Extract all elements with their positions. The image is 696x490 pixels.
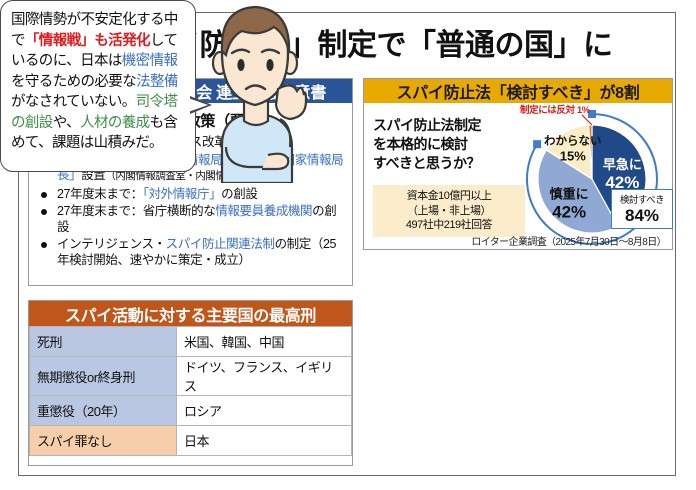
- comment-text-part: がなされていない。: [11, 94, 136, 110]
- pie-slice-label: 慎重に: [550, 186, 589, 201]
- poll-note-line: 資本金10億円以上: [407, 190, 492, 202]
- penalty-countries-cell: ドイツ、フランス、イギリス: [177, 357, 352, 396]
- pie-bracket-endpoint: [533, 140, 541, 148]
- penalty-type-cell: 死刑: [30, 327, 177, 357]
- poll-body: スパイ防止法制定を本格的に検討すべきと思うか？ 資本金10億円以上（上場・非上場…: [364, 103, 672, 250]
- poll-note-line: 497社中219社回答: [406, 219, 492, 231]
- pie-slice-value: 15%: [560, 148, 586, 163]
- table-row: 重懲役（20年）ロシア: [30, 396, 352, 426]
- agreement-bullet: 27年度末まで：省庁横断的な情報要員養成機関の創設: [37, 204, 346, 235]
- infographic-page: 「スパイ防止法」制定で「普通の国」に 自民党・日本維新の会 連立政権合意書 ５．…: [0, 0, 696, 490]
- poll-header: スパイ防止法「検討すべき」が8割: [364, 79, 672, 103]
- penalty-table: 死刑米国、韓国、中国無期懲役or終身刑ドイツ、フランス、イギリス重懲役（20年）…: [29, 326, 352, 456]
- agreement-bullet: インテリジェンス・スパイ防止関連法制の制定（25年検討開始、速やかに策定・成立）: [37, 237, 346, 268]
- bullet-text-part: の創設: [221, 187, 257, 201]
- bullet-text-part: スパイ防止関連法制: [166, 237, 275, 251]
- callout-should-consider: 検討すべき 84%: [611, 189, 673, 229]
- agreement-bullet: 27年度末まで：「対外情報庁」の創設: [37, 187, 346, 203]
- bullet-text-part: 「対外情報庁」: [143, 187, 221, 201]
- panel-penalties: スパイ活動に対する主要国の最高刑 死刑米国、韓国、中国無期懲役or終身刑ドイツ、…: [28, 300, 353, 466]
- comment-text-part: 人材の養成: [80, 115, 150, 131]
- poll-note-line: （上場・非上場）: [407, 205, 491, 217]
- comment-text-part: 法整備: [136, 74, 178, 90]
- penalty-header: スパイ活動に対する主要国の最高刑: [29, 301, 352, 326]
- poll-source: ロイター企業調査（2025年7月30日〜8月8日）: [471, 233, 666, 248]
- bullet-text-part: インテリジェンス・: [57, 237, 166, 251]
- annotation-opposed: 制定には反対 1%: [520, 102, 590, 116]
- penalty-countries-cell: 米国、韓国、中国: [177, 327, 352, 357]
- bullet-text-part: 27年度末まで：: [57, 187, 143, 201]
- panel-comment: 国際情勢が不安定化する中で「情報戦」も活発化しているのに、日本は機密情報を守るた…: [0, 0, 310, 183]
- poll-question-line: を本格的に検討: [373, 136, 468, 152]
- poll-question-line: すべきと思うか？: [373, 155, 480, 171]
- callout-value: 84%: [612, 206, 672, 225]
- panel-poll: スパイ防止法「検討すべき」が8割 スパイ防止法制定を本格的に検討すべきと思うか？…: [363, 78, 673, 250]
- callout-label: 検討すべき: [612, 192, 672, 206]
- bullet-text-part: の制定: [275, 237, 311, 251]
- penalty-type-cell: 無期懲役or終身刑: [30, 357, 177, 396]
- penalty-countries-cell: ロシア: [177, 396, 352, 426]
- penalty-type-cell: 重懲役（20年）: [30, 396, 177, 426]
- poll-question: スパイ防止法制定を本格的に検討すべきと思うか？: [373, 116, 523, 173]
- penalty-countries-cell: 日本: [177, 426, 352, 456]
- bullet-text-part: 情報要員養成機関: [215, 204, 312, 218]
- penalty-type-cell: スパイ罪なし: [30, 426, 177, 456]
- comment-text-part: を守るための必要な: [11, 74, 136, 90]
- worried-man-illustration: [196, 0, 314, 183]
- pie-slice-value: 42%: [552, 202, 586, 221]
- poll-question-line: スパイ防止法制定: [373, 117, 481, 133]
- bullet-text-part: 27年度末まで：省庁横断的な: [57, 204, 215, 218]
- comment-text-part: 機密情報: [122, 53, 178, 69]
- speech-bubble: 国際情勢が不安定化する中で「情報戦」も活発化しているのに、日本は機密情報を守るた…: [0, 0, 196, 172]
- comment-text-part: 「情報戦」も活発化: [25, 33, 150, 49]
- pie-slice-label: 早急に: [603, 157, 642, 172]
- pie-chart: 制定には反対 1% 早急に42%慎重に42%わからない15% 検討すべき 84%: [514, 103, 674, 250]
- comment-text-part: や、: [53, 115, 80, 131]
- table-row: スパイ罪なし日本: [30, 426, 352, 456]
- table-row: 無期懲役or終身刑ドイツ、フランス、イギリス: [30, 357, 352, 396]
- table-row: 死刑米国、韓国、中国: [30, 327, 352, 357]
- pie-slice-label: わからない: [544, 134, 602, 147]
- poll-sample-note: 資本金10億円以上（上場・非上場）497社中219社回答: [373, 185, 525, 237]
- comment-text: 国際情勢が不安定化する中で「情報戦」も活発化しているのに、日本は機密情報を守るた…: [11, 10, 186, 154]
